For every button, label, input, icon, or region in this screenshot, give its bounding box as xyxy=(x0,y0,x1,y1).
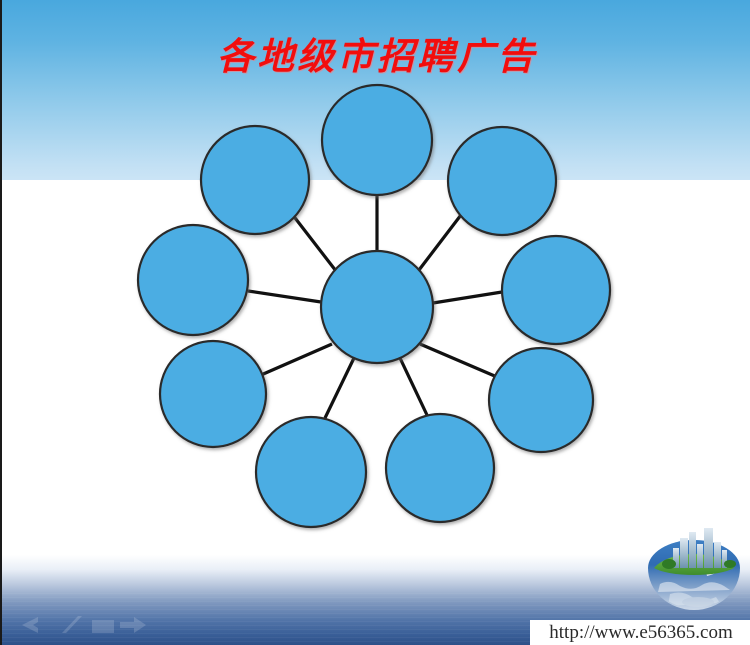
node-bottom-left-inner[interactable] xyxy=(256,417,366,527)
city-skyline xyxy=(673,528,727,568)
center-node[interactable] xyxy=(321,251,433,363)
node-right[interactable] xyxy=(502,236,610,344)
connector-to-node-bottom-left xyxy=(261,344,332,375)
node-bottom-left[interactable] xyxy=(160,341,266,447)
connector-to-node-right xyxy=(433,292,502,303)
slide-canvas: 各地级市招聘广告 xyxy=(0,0,750,645)
node-top-left[interactable] xyxy=(201,126,309,234)
hub-and-spoke-diagram xyxy=(2,0,750,645)
watermark-url: http://www.e56365.com xyxy=(549,622,732,644)
connector-to-node-top-left xyxy=(292,214,336,271)
node-bottom-right[interactable] xyxy=(489,348,593,452)
node-top-right[interactable] xyxy=(448,127,556,235)
connector-to-node-bottom-right xyxy=(420,344,497,377)
node-left[interactable] xyxy=(138,225,248,335)
connector-to-node-bottom-right-inner xyxy=(400,358,427,415)
globe-city-logo xyxy=(640,518,748,614)
connector-to-node-left xyxy=(248,291,321,302)
connector-to-node-top-right xyxy=(419,211,464,270)
connector-to-node-bottom-left-inner xyxy=(325,358,354,418)
node-bottom-right-inner[interactable] xyxy=(386,414,494,522)
source-watermark: http://www.e56365.com xyxy=(530,620,750,645)
node-top[interactable] xyxy=(322,85,432,195)
